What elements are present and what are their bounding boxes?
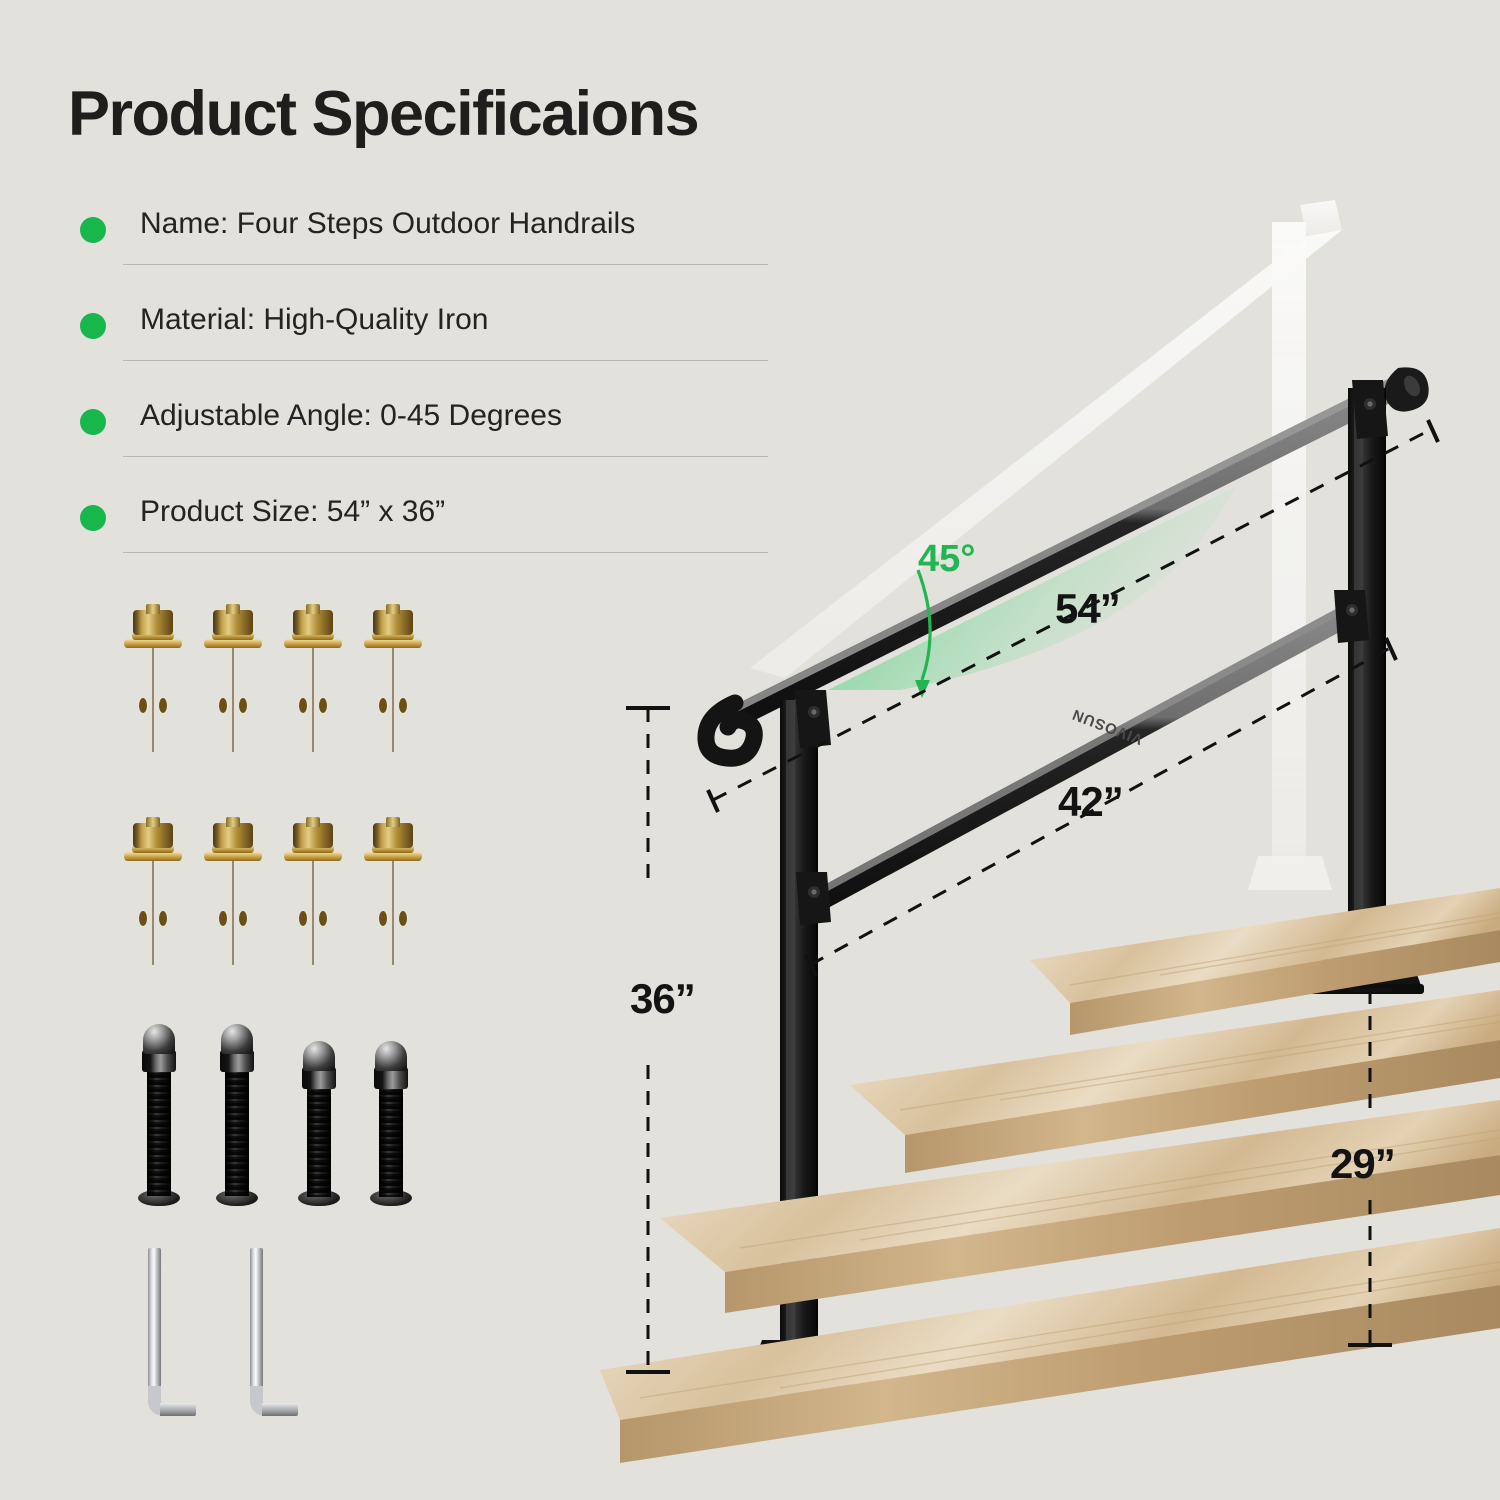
pivot-bracket-top-front [795,690,831,748]
expansion-anchor-bolt-icon [362,602,424,772]
pivot-bracket-top-rear [1352,380,1388,439]
dome-cap-bolt-icon [130,1018,188,1218]
dimension-label-lower-rail: 42” [1058,778,1123,826]
expansion-anchor-bolt-icon [122,815,184,985]
expansion-anchor-bolt-icon [202,815,264,985]
dome-cap-bolt-icon [290,1035,348,1235]
dimension-label-angle: 45° [918,538,975,581]
expansion-anchor-bolt-icon [362,815,424,985]
expansion-anchor-bolt-icon [282,602,344,772]
pivot-bracket-lower-front [796,872,831,925]
handrail-diagram-svg [600,0,1500,1500]
dimension-label-post-height: 36” [630,975,695,1023]
expansion-anchor-bolt-icon [122,602,184,772]
expansion-anchor-bolt-icon [202,602,264,772]
allen-hex-key-icon [242,1248,302,1418]
allen-hex-key-icon [140,1248,200,1418]
handrail-illustration: VIVOSUN 45° 54” 42” 36” 29” [600,0,1500,1500]
dimension-label-stair-rise: 29” [1330,1140,1395,1188]
expansion-anchor-bolt-icon [282,815,344,985]
dome-cap-bolt-icon [362,1035,420,1235]
rear-post [1348,388,1386,968]
pivot-bracket-lower-rear [1334,590,1369,643]
dome-cap-bolt-icon [208,1018,266,1218]
dimension-label-top-rail: 54” [1055,585,1120,633]
